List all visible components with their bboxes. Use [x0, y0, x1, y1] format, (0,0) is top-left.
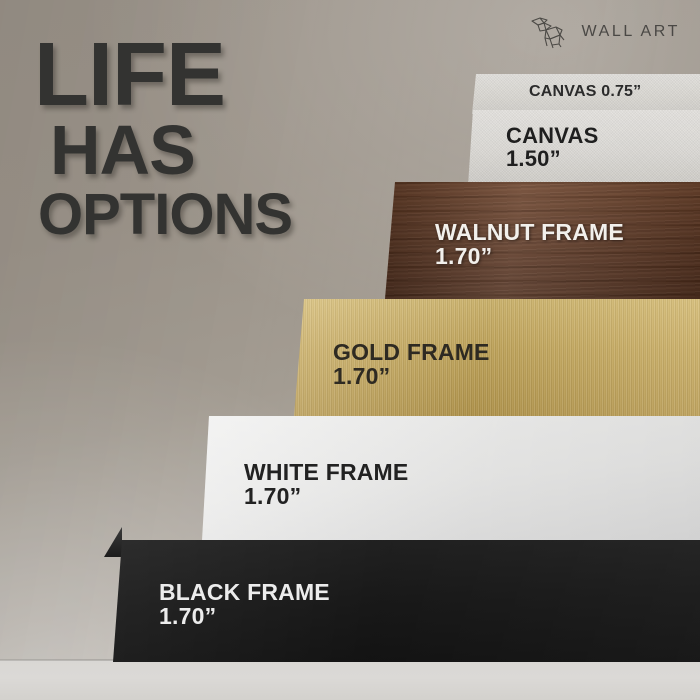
product-label-white-frame: WHITE FRAME 1.70” [244, 460, 408, 509]
product-label-canvas-150: CANVAS 1.50” [506, 124, 598, 171]
product-slab-gold-frame[interactable]: GOLD FRAME 1.70” [294, 299, 700, 416]
product-options-poster: CANVAS 0.75” CANVAS 1.50” WALNUT FRAME 1… [0, 0, 700, 700]
headline-line-2: HAS [50, 117, 292, 184]
floor-surface [0, 660, 700, 700]
headline-line-3: OPTIONS [38, 186, 292, 244]
brand-logo[interactable]: WALL ART [529, 14, 680, 50]
product-label-canvas-075: CANVAS 0.75” [529, 84, 641, 101]
origami-goat-icon [529, 14, 573, 50]
product-label-black-frame: BLACK FRAME 1.70” [159, 580, 330, 629]
product-slab-canvas-150[interactable]: CANVAS 1.50” [468, 110, 700, 186]
product-slab-white-frame[interactable]: WHITE FRAME 1.70” [202, 416, 700, 541]
page-headline: LIFE HAS OPTIONS [34, 34, 292, 244]
product-label-gold-frame: GOLD FRAME 1.70” [333, 340, 490, 389]
product-slab-black-frame[interactable]: BLACK FRAME 1.70” [113, 540, 700, 662]
headline-line-1: LIFE [34, 34, 292, 117]
product-slab-canvas-075[interactable]: CANVAS 0.75” [472, 74, 700, 114]
product-label-walnut-frame: WALNUT FRAME 1.70” [435, 220, 624, 269]
product-slab-walnut-frame[interactable]: WALNUT FRAME 1.70” [385, 182, 700, 299]
brand-name: WALL ART [582, 23, 680, 41]
